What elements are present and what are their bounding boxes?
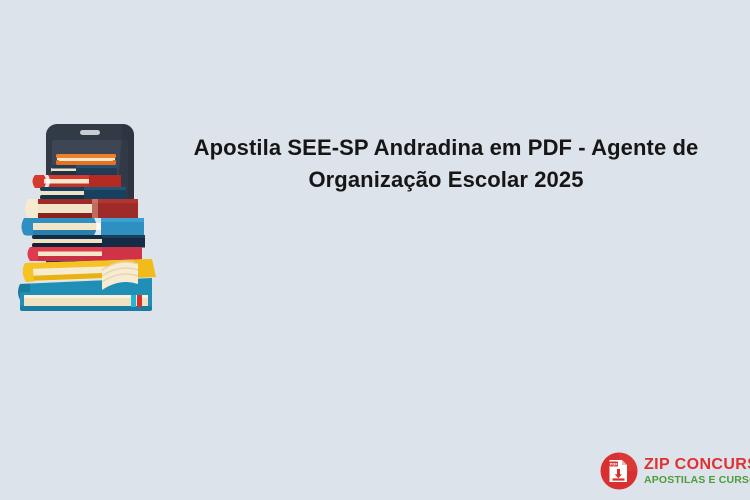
book-darkred	[25, 199, 138, 219]
poster-canvas: Apostila SEE-SP Andradina em PDF - Agent…	[0, 0, 750, 500]
book-navy-3	[32, 235, 145, 248]
pdf-label: PDF	[610, 463, 619, 467]
download-tray	[613, 478, 625, 480]
bookmark-red	[137, 295, 142, 307]
pdf-download-icon: PDF	[600, 452, 638, 490]
book-teal-bottom	[18, 278, 152, 311]
bookmark-cyan	[131, 295, 136, 307]
brand-logo[interactable]: PDF ZIP CONCURSOS APOSTILAS E CURSOS	[600, 449, 745, 493]
book-crimson	[28, 247, 143, 262]
brand-tagline: APOSTILAS E CURSOS	[644, 474, 750, 487]
page-title-line-2: Organização Escolar 2025	[172, 164, 720, 196]
book-navy-1	[51, 165, 117, 175]
book-navy-2	[40, 187, 126, 200]
page-title: Apostila SEE-SP Andradina em PDF - Agent…	[172, 132, 720, 196]
book-red-1	[33, 175, 122, 188]
book-orange	[56, 154, 116, 165]
page-title-line-1: Apostila SEE-SP Andradina em PDF - Agent…	[172, 132, 720, 164]
books-tablet-illustration	[6, 122, 176, 314]
book-blue	[22, 218, 145, 236]
brand-name: ZIP CONCURSOS	[644, 456, 750, 473]
brand-wordmark: ZIP CONCURSOS APOSTILAS E CURSOS	[644, 456, 750, 487]
